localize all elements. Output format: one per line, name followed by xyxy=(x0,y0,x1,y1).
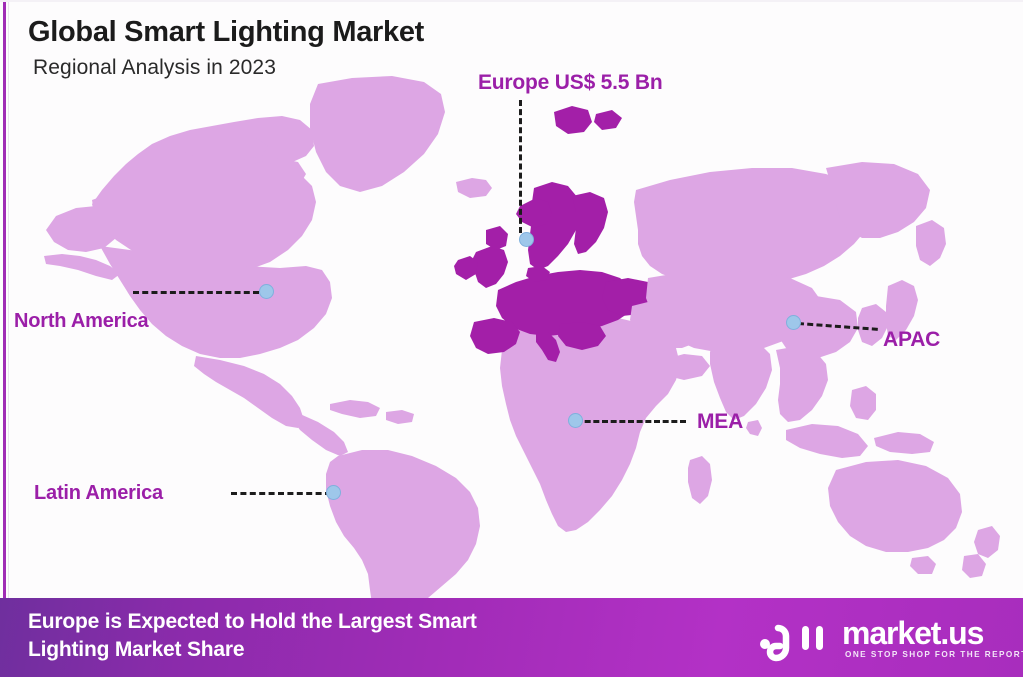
market-us-logo[interactable]: market.us ONE STOP SHOP FOR THE REPORTS xyxy=(758,612,1008,668)
europe-svalbard xyxy=(554,106,592,134)
world-map xyxy=(0,60,1023,605)
region-label-europe-value: US$ 5.5 Bn xyxy=(555,71,663,94)
region-new-zealand-south xyxy=(962,554,986,578)
region-label-europe-name: Europe xyxy=(478,71,549,94)
region-alaska xyxy=(46,206,120,252)
region-iceland xyxy=(456,178,492,198)
infographic-page: Global Smart Lighting Market Regional An… xyxy=(0,0,1023,677)
map-marker-mea[interactable] xyxy=(568,413,583,428)
region-southeast-asia xyxy=(776,346,828,422)
map-marker-north-america[interactable] xyxy=(259,284,274,299)
region-label-europe: Europe US$ 5.5 Bn xyxy=(478,71,663,95)
region-indonesia xyxy=(786,424,868,458)
region-greenland xyxy=(310,76,445,192)
map-marker-latin-america[interactable] xyxy=(326,485,341,500)
map-marker-europe[interactable] xyxy=(519,232,534,247)
region-madagascar xyxy=(688,456,712,504)
banner-headline-line1: Europe is Expected to Hold the Largest S… xyxy=(28,608,648,636)
region-central-america xyxy=(294,414,348,456)
europe-uk-north xyxy=(486,226,508,250)
market-us-logo-mark xyxy=(758,614,838,662)
world-map-svg xyxy=(0,60,1023,605)
page-subtitle: Regional Analysis in 2023 xyxy=(33,56,276,80)
leader-line-latin-america xyxy=(231,492,331,495)
region-australia xyxy=(828,460,962,552)
region-label-latin-america: Latin America xyxy=(34,482,163,505)
banner-headline: Europe is Expected to Hold the Largest S… xyxy=(28,608,648,665)
europe-british-isles xyxy=(472,246,508,288)
europe-ireland xyxy=(454,256,478,280)
region-label-mea: MEA xyxy=(697,410,743,434)
region-kamchatka xyxy=(916,220,946,266)
region-india xyxy=(710,338,772,420)
top-hairline xyxy=(0,0,1023,2)
region-sri-lanka xyxy=(746,420,762,436)
market-us-wordmark: market.us xyxy=(842,615,983,652)
left-accent-stripe-secondary xyxy=(8,0,9,598)
region-new-zealand xyxy=(974,526,1000,558)
europe-svalbard2 xyxy=(594,110,622,130)
map-landmasses xyxy=(44,76,1000,605)
region-africa xyxy=(500,316,680,532)
region-philippines xyxy=(850,386,876,420)
region-hispaniola xyxy=(386,410,414,424)
region-south-america xyxy=(326,450,480,605)
region-label-north-america: North America xyxy=(14,310,148,333)
europe-finland xyxy=(572,192,608,254)
market-us-tagline: ONE STOP SHOP FOR THE REPORTS xyxy=(845,650,1023,659)
region-label-apac: APAC xyxy=(883,328,940,352)
region-tasmania xyxy=(910,556,936,574)
region-new-guinea xyxy=(874,432,934,454)
region-caribbean xyxy=(330,400,380,418)
leader-line-europe xyxy=(519,100,522,233)
left-accent-stripe xyxy=(3,0,6,598)
banner-headline-line2: Lighting Market Share xyxy=(28,636,648,664)
region-mexico xyxy=(194,356,304,428)
map-marker-apac[interactable] xyxy=(786,315,801,330)
leader-line-mea xyxy=(576,420,686,423)
leader-line-north-america xyxy=(133,291,259,294)
page-title: Global Smart Lighting Market xyxy=(28,16,424,49)
